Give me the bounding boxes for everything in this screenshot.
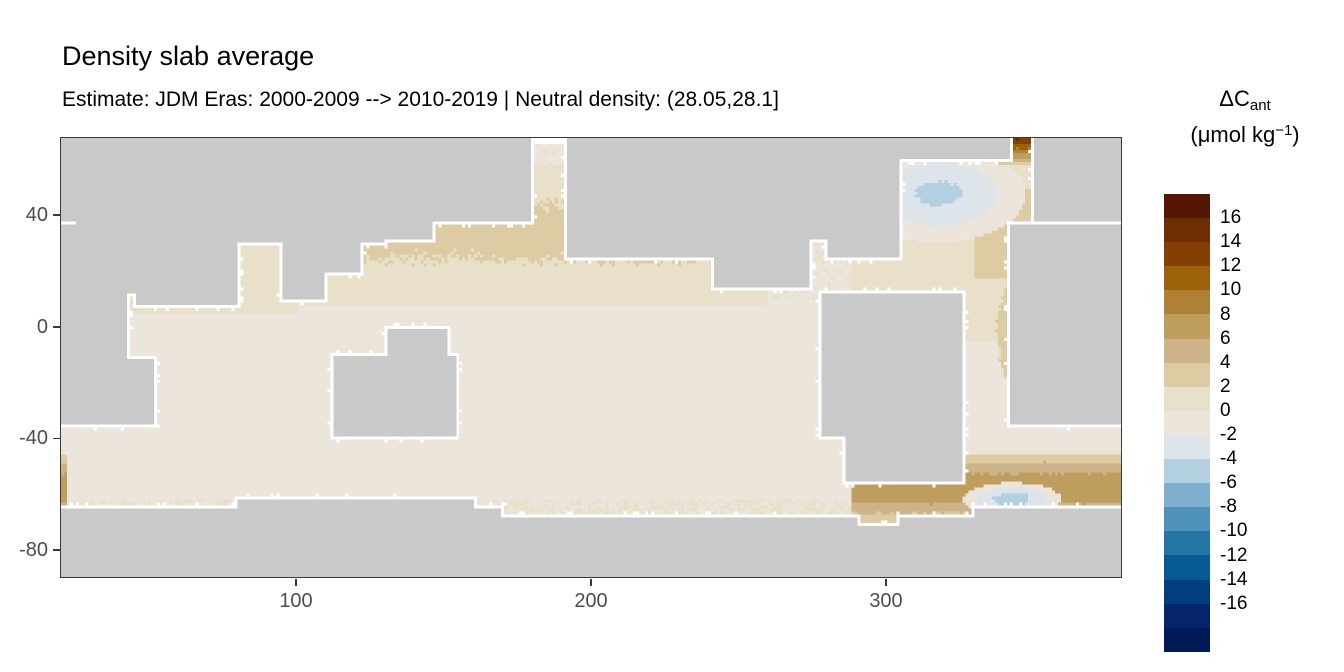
x-tick-label: 100 <box>279 590 312 613</box>
legend-variable: ΔC <box>1219 86 1250 111</box>
colorbar-band <box>1164 314 1210 338</box>
legend-units-suffix: ) <box>1292 122 1299 147</box>
y-tick-mark <box>53 214 60 216</box>
colorbar-band <box>1164 266 1210 290</box>
legend-units: (μmol kg−1) <box>1150 116 1340 150</box>
colorbar-band <box>1164 555 1210 579</box>
map-panel <box>60 137 1122 578</box>
colorbar-tick-label: -6 <box>1220 473 1237 492</box>
colorbar-legend: ΔCant (μmol kg−1) 1614121086420-2-4-6-8-… <box>1150 84 1340 644</box>
colorbar-band <box>1164 580 1210 604</box>
colorbar-band <box>1164 242 1210 266</box>
y-tick-label: -40 <box>0 427 48 450</box>
x-tick-mark <box>885 579 887 586</box>
colorbar-band <box>1164 604 1210 628</box>
colorbar-band <box>1164 459 1210 483</box>
map-raster <box>61 138 1121 577</box>
colorbar-band <box>1164 339 1210 363</box>
y-tick-label: -80 <box>0 539 48 562</box>
colorbar-band <box>1164 507 1210 531</box>
colorbar-tick-label: 10 <box>1220 280 1241 299</box>
colorbar-tick-label: 14 <box>1220 232 1241 251</box>
legend-units-exponent: −1 <box>1275 122 1292 139</box>
colorbar-tick-label: 2 <box>1220 377 1231 396</box>
y-tick-label: 0 <box>0 316 48 339</box>
colorbar-tick-label: 16 <box>1220 208 1241 227</box>
legend-units-prefix: (μmol kg <box>1190 122 1275 147</box>
colorbar-tick-label: -12 <box>1220 546 1247 565</box>
colorbar-tick-label: 8 <box>1220 305 1231 324</box>
legend-variable-subscript: ant <box>1250 97 1271 114</box>
colorbar-band <box>1164 290 1210 314</box>
y-tick-mark <box>53 326 60 328</box>
colorbar-tick-label: -14 <box>1220 570 1247 589</box>
colorbar-tick-label: -8 <box>1220 497 1237 516</box>
y-tick-label: 40 <box>0 204 48 227</box>
colorbar-tick-label: 0 <box>1220 401 1231 420</box>
x-tick-mark <box>590 579 592 586</box>
y-tick-mark <box>53 549 60 551</box>
figure-subtitle: Estimate: JDM Eras: 2000-2009 --> 2010-2… <box>62 87 779 113</box>
colorbar-band <box>1164 194 1210 218</box>
colorbar-band <box>1164 628 1210 652</box>
x-tick-mark <box>295 579 297 586</box>
colorbar-band <box>1164 435 1210 459</box>
colorbar-tick-label: 4 <box>1220 353 1231 372</box>
colorbar-band <box>1164 411 1210 435</box>
colorbar-band <box>1164 531 1210 555</box>
colorbar-tick-label: -2 <box>1220 425 1237 444</box>
figure-root: Density slab average Estimate: JDM Eras:… <box>0 0 1344 672</box>
x-tick-label: 300 <box>869 590 902 613</box>
colorbar-band <box>1164 387 1210 411</box>
colorbar-tick-label: -16 <box>1220 594 1247 613</box>
y-tick-mark <box>53 438 60 440</box>
colorbar-band <box>1164 483 1210 507</box>
x-tick-label: 200 <box>574 590 607 613</box>
colorbar-tick-label: -4 <box>1220 449 1237 468</box>
colorbar-tick-label: -10 <box>1220 521 1247 540</box>
colorbar-tick-label: 6 <box>1220 329 1231 348</box>
colorbar-tick-label: 12 <box>1220 256 1241 275</box>
colorbar-gradient <box>1164 194 1210 652</box>
colorbar-band <box>1164 363 1210 387</box>
colorbar-band <box>1164 218 1210 242</box>
page-title: Density slab average <box>62 40 314 72</box>
